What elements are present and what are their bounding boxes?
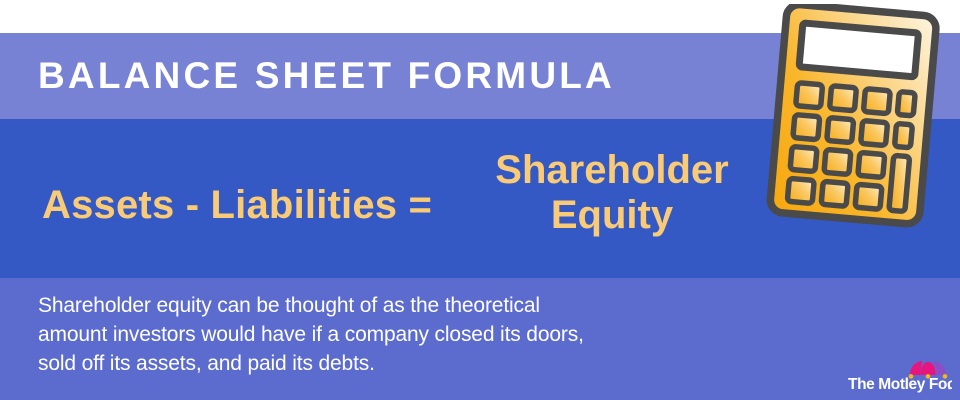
body-paragraph: Shareholder equity can be thought of as … (38, 291, 718, 378)
calculator-icon (762, 4, 952, 228)
body-line-1: Shareholder equity can be thought of as … (38, 291, 718, 320)
the-motley-fool-logo[interactable]: The Motley Fool (848, 360, 952, 394)
body-line-2: amount investors would have if a company… (38, 320, 718, 349)
formula-result-line-1: Shareholder (470, 148, 754, 193)
brand-wordmark: The Motley Fool (848, 376, 952, 393)
body-line-3: sold off its assets, and paid its debts. (38, 349, 718, 378)
formula-left-expression: Assets - Liabilities = (42, 183, 432, 228)
formula-result: Shareholder Equity (470, 148, 754, 238)
formula-result-line-2: Equity (470, 193, 754, 238)
infographic-canvas: BALANCE SHEET FORMULA Assets - Liabiliti… (0, 0, 960, 400)
page-title: BALANCE SHEET FORMULA (38, 52, 615, 100)
